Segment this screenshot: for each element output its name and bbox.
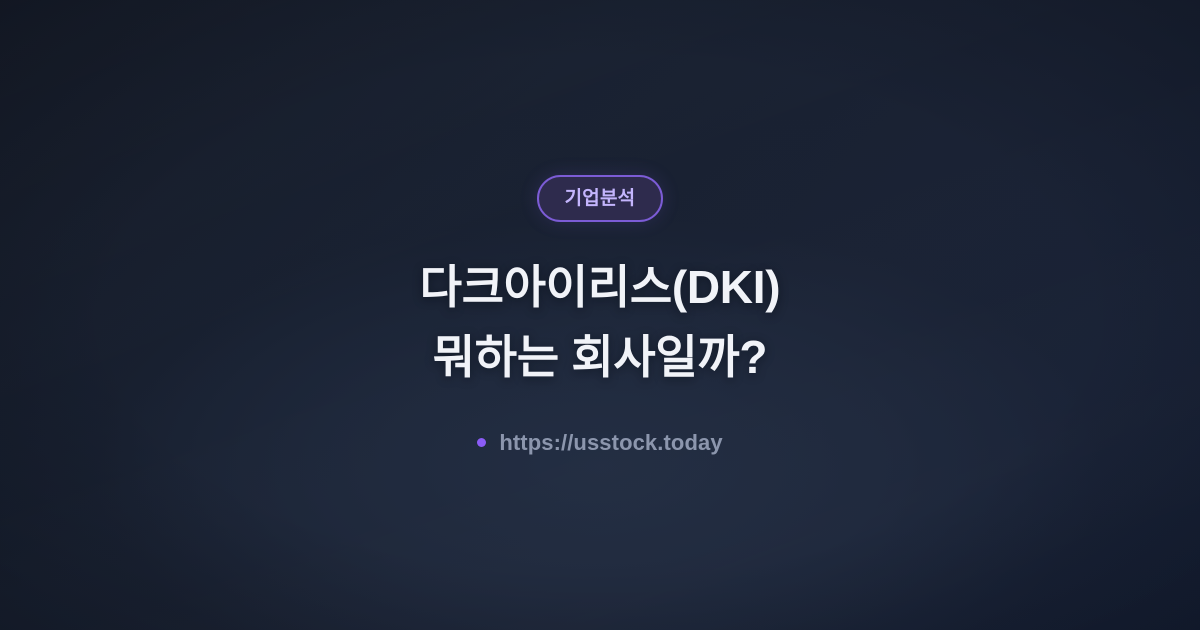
page-title-line-1: 다크아이리스(DKI): [420, 252, 780, 322]
card-content: 기업분석 다크아이리스(DKI) 뭐하는 회사일까? https://ussto…: [0, 0, 1200, 630]
site-url: https://usstock.today: [477, 430, 722, 456]
site-url-text: https://usstock.today: [499, 430, 722, 456]
og-share-card: 기업분석 다크아이리스(DKI) 뭐하는 회사일까? https://ussto…: [0, 0, 1200, 630]
category-badge: 기업분석: [537, 175, 664, 222]
bullet-dot-icon: [477, 438, 486, 447]
page-title: 다크아이리스(DKI) 뭐하는 회사일까?: [420, 252, 780, 392]
page-title-line-2: 뭐하는 회사일까?: [420, 322, 780, 392]
